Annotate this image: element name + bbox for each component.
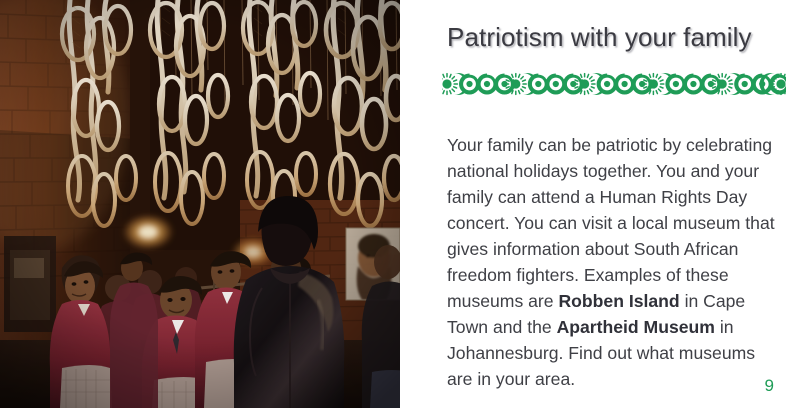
body-paragraph: Your family can be patriotic by celebrat… [447, 132, 777, 393]
photo-illustration [0, 0, 400, 408]
text-panel: Patriotism with your family [400, 0, 800, 408]
page-title: Patriotism with your family [447, 22, 752, 53]
photo-apartheid-museum-nooses [0, 0, 400, 408]
ornament-repeat-group [442, 73, 786, 95]
spiral-sunburst-pattern [442, 72, 786, 96]
decorative-border-ornament [442, 72, 786, 96]
page-number: 9 [765, 376, 774, 396]
textbook-page: Patriotism with your family [0, 0, 800, 408]
